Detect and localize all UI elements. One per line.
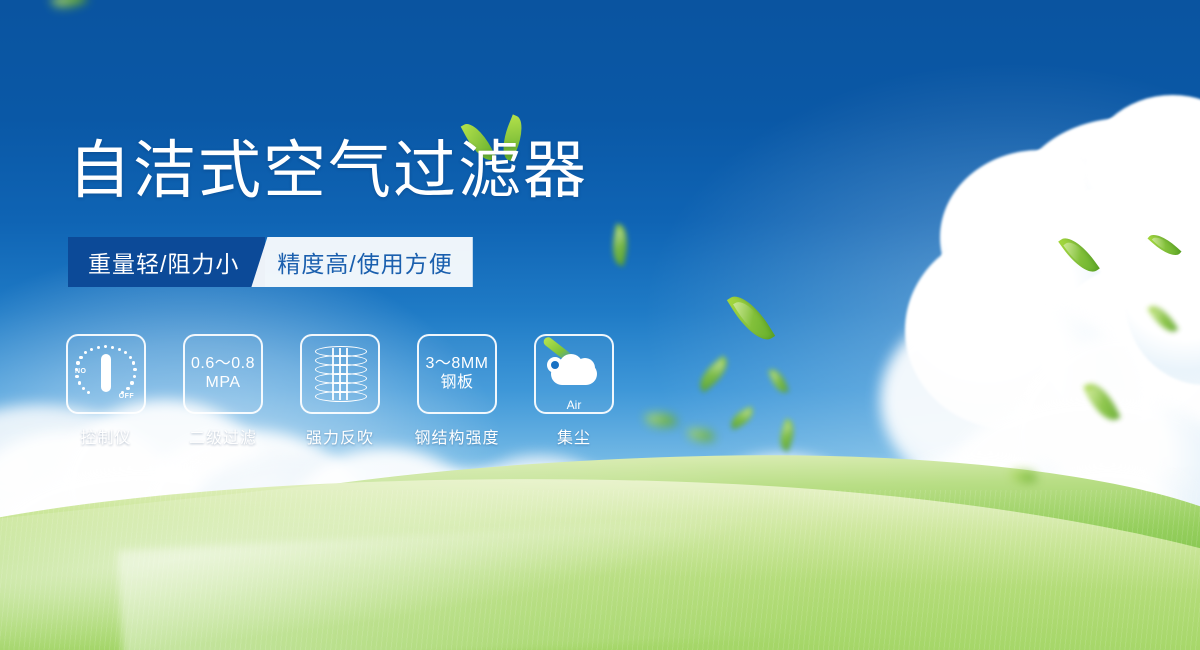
steel-value-line1: 3～8MM	[426, 355, 489, 374]
feature-item-dust[interactable]: Air 集尘	[536, 334, 612, 448]
subtitle-secondary: 精度高/使用方便	[251, 237, 472, 287]
feature-icon-box: 3～8MM 钢板	[417, 334, 497, 414]
subtitle-banner: 重量轻/阻力小 精度高/使用方便	[68, 237, 473, 287]
gauge-label-off: OFF	[119, 393, 134, 400]
feature-list: NO OFF 控制仪 0.6～0.8 MPA 二级过滤	[68, 334, 612, 448]
cloud-air-icon: Air	[545, 349, 603, 399]
air-label: Air	[545, 398, 603, 412]
leaf-icon	[50, 0, 88, 14]
grass-texture	[0, 490, 1200, 650]
feature-item-steel[interactable]: 3～8MM 钢板 钢结构强度	[419, 334, 495, 448]
feature-item-pressure[interactable]: 0.6～0.8 MPA 二级过滤	[185, 334, 261, 448]
feature-label: 二级过滤	[189, 424, 257, 448]
feature-label: 钢结构强度	[415, 424, 500, 448]
feature-label: 控制仪	[80, 424, 131, 448]
pressure-value-line1: 0.6～0.8	[191, 355, 255, 374]
gauge-needle	[101, 354, 111, 392]
feature-icon-box	[300, 334, 380, 414]
feature-icon-box: NO OFF	[66, 334, 146, 414]
leaf-icon	[727, 406, 756, 429]
feature-item-backblow[interactable]: 强力反吹	[302, 334, 378, 448]
feature-item-controller[interactable]: NO OFF 控制仪	[68, 334, 144, 448]
coil-filter-icon	[315, 346, 365, 402]
feature-label: 集尘	[557, 424, 591, 448]
leaf-icon	[645, 409, 678, 431]
feature-icon-box: Air	[534, 334, 614, 414]
page-title: 自洁式空气过滤器	[68, 140, 588, 203]
leaf-icon	[608, 224, 632, 266]
gauge-icon: NO OFF	[76, 345, 136, 403]
leaf-icon	[693, 356, 733, 393]
product-hero-banner: 自洁式空气过滤器 重量轻/阻力小 精度高/使用方便	[0, 0, 1200, 650]
leaf-icon	[727, 288, 775, 347]
feature-icon-box: 0.6～0.8 MPA	[183, 334, 263, 414]
subtitle-primary: 重量轻/阻力小	[68, 237, 265, 287]
steel-value-line2: 钢板	[440, 374, 473, 393]
gauge-label-no: NO	[75, 368, 86, 375]
feature-label: 强力反吹	[306, 424, 374, 448]
pressure-value-line2: MPA	[206, 374, 241, 393]
leaf-icon	[768, 367, 788, 396]
